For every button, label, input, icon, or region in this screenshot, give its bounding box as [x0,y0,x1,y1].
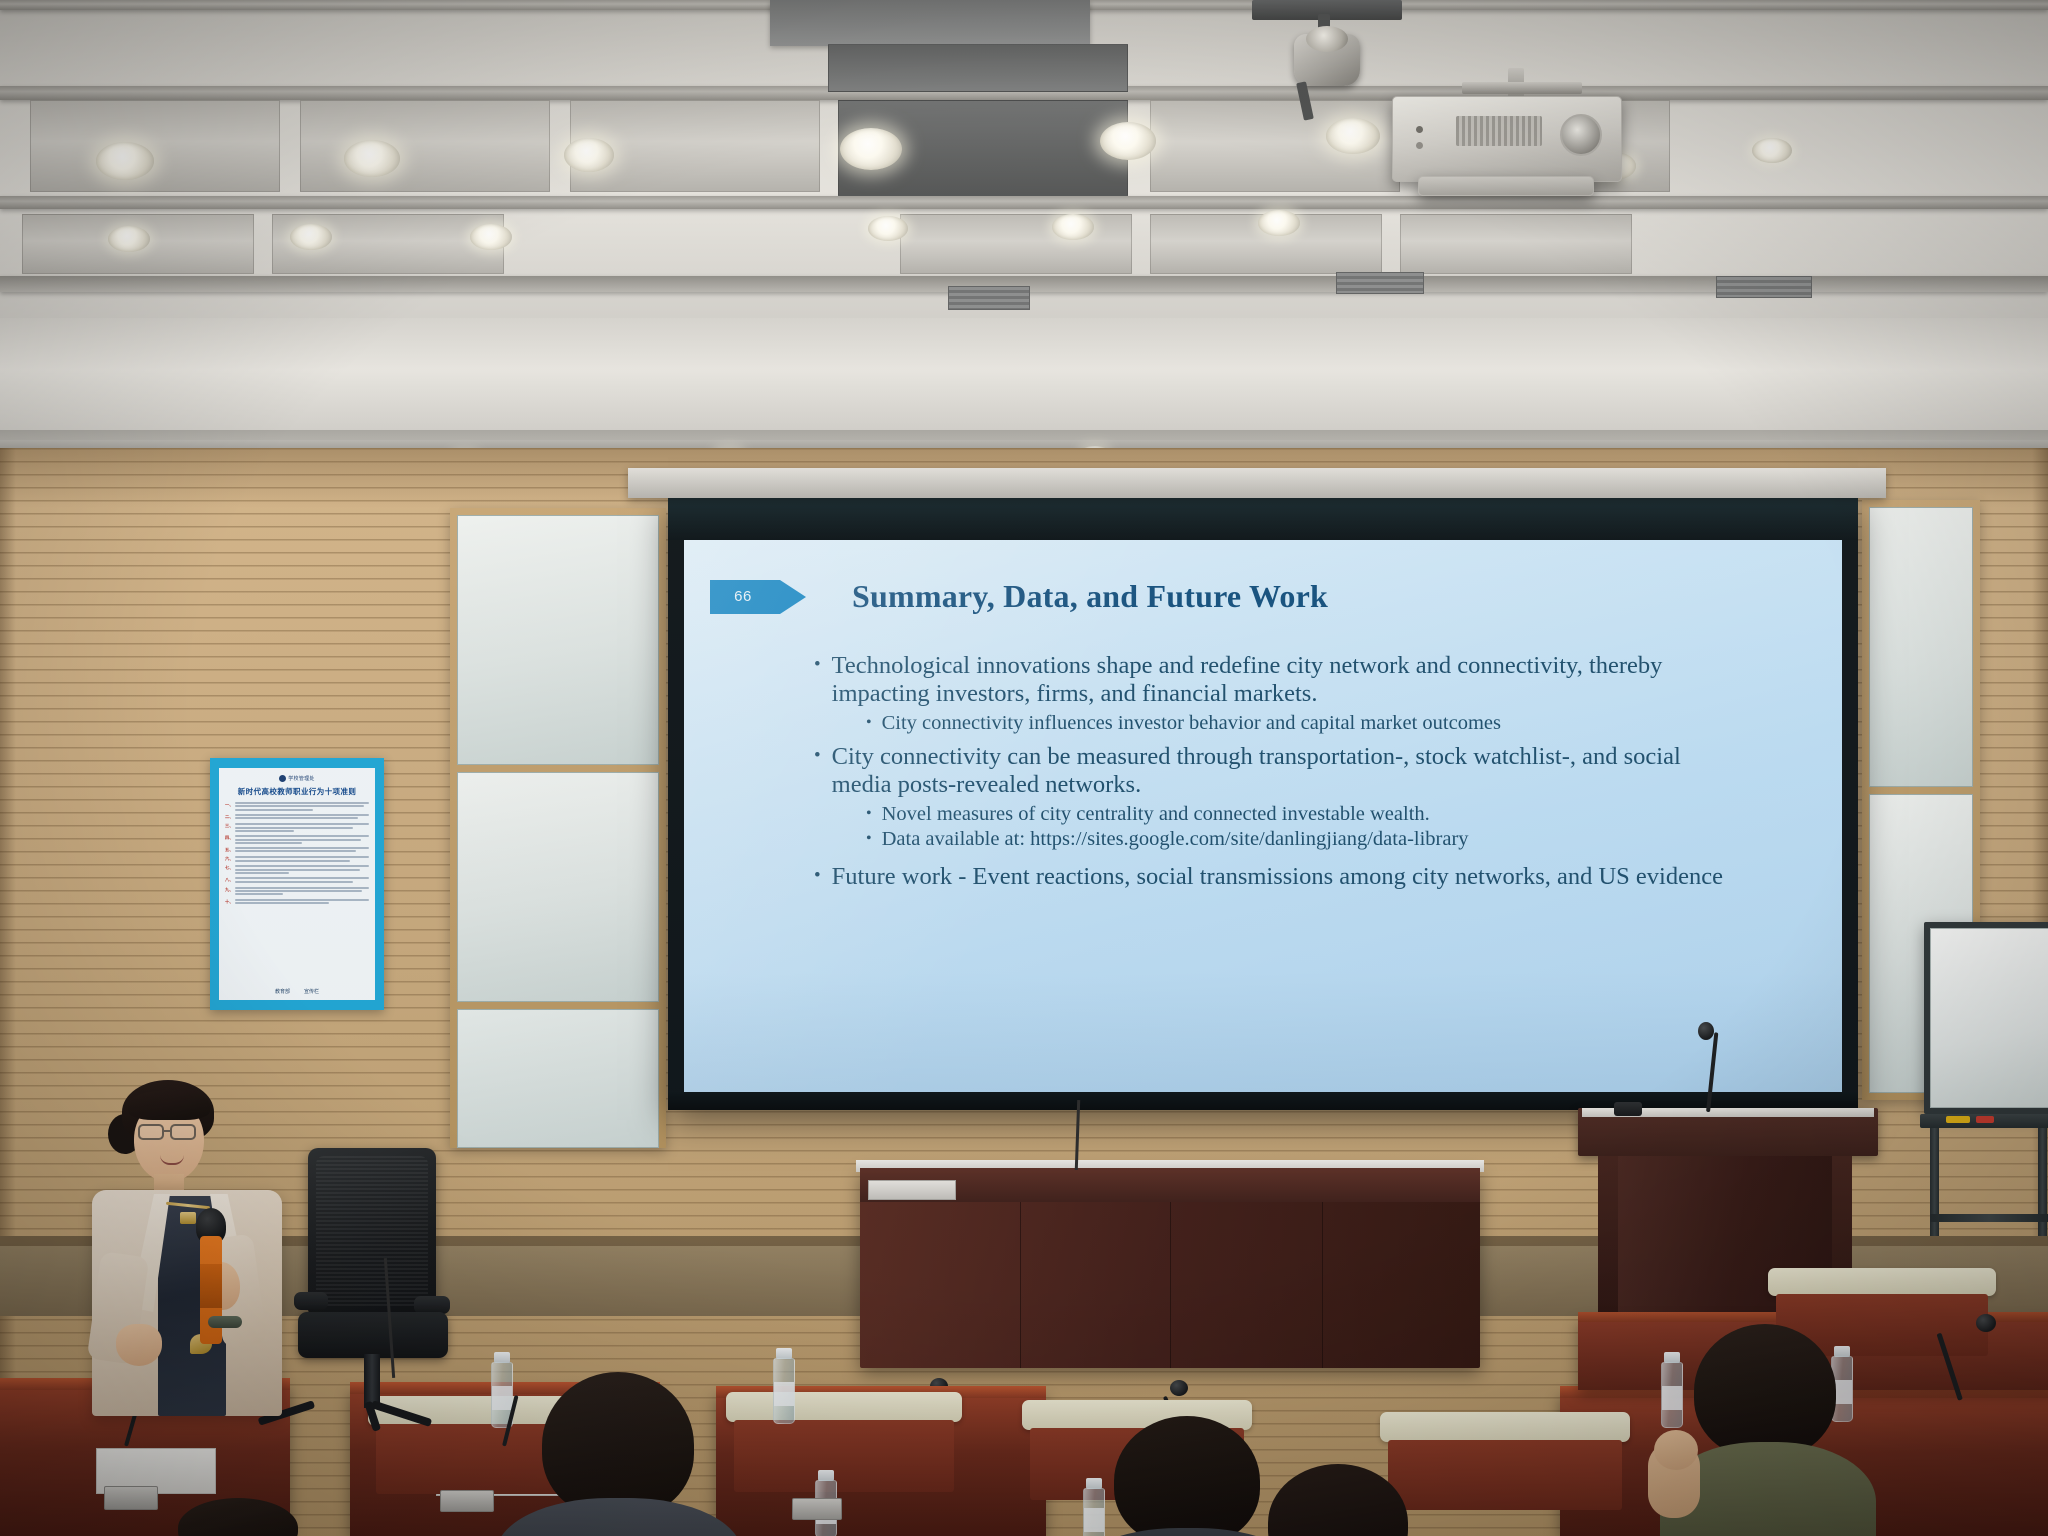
rule-number: 十、 [225,899,233,905]
ceiling-downlight [868,216,908,241]
bullet-glyph: • [814,863,821,891]
ceiling-panel [1400,214,1632,274]
audience-head [542,1372,694,1518]
poster-rule: 一、 [225,802,369,811]
rule-number: 八、 [225,877,233,883]
bullet-text-url: Data available at: https://sites.google.… [882,827,1734,851]
slide-title: Summary, Data, and Future Work [852,578,1328,615]
slide-subbullet: • Novel measures of city centrality and … [866,802,1734,826]
chair-backrest [308,1148,436,1316]
projector-lens [1560,114,1602,156]
slide-bullet: • Technological innovations shape and re… [814,652,1734,709]
ceiling-downlight [108,226,150,252]
necklace-pendant [180,1212,196,1224]
presenter [96,1076,326,1416]
slide-subbullet: • Data available at: https://sites.googl… [866,827,1734,851]
rule-text [235,877,369,883]
poster-rule: 三、 [225,823,369,832]
bullet-text: City connectivity can be measured throug… [832,743,1734,800]
slide-body: • Technological innovations shape and re… [814,652,1734,894]
rule-number: 四、 [225,835,233,844]
ceiling-downlight [1100,122,1156,160]
bullet-text: Future work - Event reactions, social tr… [832,863,1734,891]
ceiling-downlight [1052,214,1094,240]
ceiling-recess [828,44,1128,92]
projector-indicator [1416,126,1423,133]
poster-footer-right: 宣传栏 [304,988,319,995]
rule-text [235,802,369,811]
whiteboard-pane [457,1009,659,1148]
whiteboard-marker [1946,1116,1970,1123]
projector-vent [1456,116,1542,146]
poster-organization: 学校管理处 [288,775,315,782]
desk-power-outlet [792,1498,842,1520]
rule-text [235,835,369,844]
chair-mesh [316,1156,428,1306]
poster-footer: 教育部 宣传栏 [275,988,319,995]
presenter-hair [128,1090,210,1120]
ceiling-vent [1336,272,1424,294]
slide-subbullet-group: • Novel measures of city centrality and … [814,802,1734,851]
whiteboard-pane [1869,507,1973,787]
whiteboard-divider [457,1002,659,1009]
desk-power-outlet [104,1486,158,1510]
rule-text [235,865,369,874]
poster-content: 学校管理处 新时代高校教师职业行为十项准则 一、 二、 三、 四、 五、 六、 … [219,768,375,1000]
presentation-slide: 66 Summary, Data, and Future Work • Tech… [684,540,1842,1092]
bullet-glyph: • [866,827,872,851]
poster-rule: 四、 [225,835,369,844]
slide-bullet: • City connectivity can be measured thro… [814,743,1734,800]
whiteboard-divider [1869,787,1973,794]
presenter-hand [116,1324,162,1366]
poster-rule: 七、 [225,865,369,874]
desk-panel-seam [1020,1202,1021,1368]
poster-rule: 六、 [225,856,369,862]
rule-number: 五、 [225,847,233,853]
ceiling-downlight [564,138,614,172]
audience-hand [1654,1430,1698,1470]
poster-rule: 二、 [225,814,369,820]
ceiling-panel [300,100,550,192]
whiteboard-surface [1930,928,2048,1108]
screen-glare [684,972,1842,1092]
ceiling-downlight [96,142,154,180]
wall-shadow [0,448,16,1536]
poster-rule: 十、 [225,899,369,905]
slide-header: 66 Summary, Data, and Future Work [710,578,1328,615]
ceiling-beam [770,0,1090,46]
ceiling-vent [1716,276,1812,298]
ceiling-downlight [344,140,400,177]
rule-text [235,823,369,832]
screen-rail [628,468,1886,498]
rule-text [235,887,369,896]
bullet-glyph: • [814,652,821,709]
bullet-text: Novel measures of city centrality and co… [882,802,1734,826]
projection-screen: 66 Summary, Data, and Future Work • Tech… [668,498,1858,1110]
poster-footer-left: 教育部 [275,988,290,995]
ceiling-downlight [290,224,332,250]
whiteboard-crossbar [1930,1214,2048,1222]
slide-bullet: • Future work - Event reactions, social … [814,863,1734,891]
poster-rule-list: 一、 二、 三、 四、 五、 六、 七、 八、 九、 十、 [225,802,369,905]
rule-text [235,899,369,905]
eyeglasses [138,1124,164,1140]
slide-number: 66 [734,588,752,605]
eyeglasses-bridge [164,1130,170,1132]
ceiling-downlight [470,224,512,250]
projector-indicator [1416,142,1423,149]
bullet-glyph: • [866,802,872,826]
microphone-grip [200,1264,222,1308]
poster-title: 新时代高校教师职业行为十项准则 [238,786,357,797]
ceiling-downlight [1752,138,1792,163]
ceiling-panel [30,100,280,192]
audience-head [1114,1416,1260,1536]
poster-rule: 九、 [225,887,369,896]
ceiling-beam [0,196,2048,209]
projector-mount [1462,82,1582,94]
whiteboard-pane [457,515,659,765]
ceiling-downlight [840,128,902,170]
podium-microphone-base [1614,1102,1642,1116]
slide-subbullet: • City connectivity influences investor … [866,711,1734,735]
ceiling-vent [948,286,1030,310]
rule-number: 七、 [225,865,233,874]
ceiling-downlight [1258,210,1300,236]
bullet-glyph: • [814,743,821,800]
audience-head [1694,1324,1836,1458]
rule-number: 一、 [225,802,233,811]
desk-control-panel [868,1180,956,1200]
bullet-text: Technological innovations shape and rede… [832,652,1734,709]
poster-seal-icon [279,775,286,782]
rule-text [235,856,369,862]
desk-panel-seam [1322,1202,1323,1368]
rule-number: 九、 [225,887,233,896]
poster-rule: 五、 [225,847,369,853]
poster-rule: 八、 [225,877,369,883]
desk-microphone-head [1170,1380,1188,1396]
rule-number: 六、 [225,856,233,862]
chair-post [364,1354,380,1408]
whiteboard-marker [1976,1116,1994,1123]
slide-number-badge: 66 [710,580,780,614]
eyeglasses [170,1124,196,1140]
rule-text [235,847,369,853]
whiteboard-pane [457,772,659,1002]
rule-text [235,814,369,820]
rule-number: 三、 [225,823,233,832]
desk-microphone-head [1976,1314,1996,1332]
spotlight-lens [1306,26,1348,52]
whiteboard-divider [457,765,659,772]
desk-panel-seam [1170,1202,1171,1368]
poster-logo: 学校管理处 [279,775,315,782]
podium-microphone-head [1698,1022,1714,1040]
lecture-hall-photo: 学校管理处 新时代高校教师职业行为十项准则 一、 二、 三、 四、 五、 六、 … [0,0,2048,1536]
slide-subbullet-group: • City connectivity influences investor … [814,711,1734,735]
screen-bezel [668,498,1858,540]
wall-whiteboard-left [450,508,666,1148]
mobile-whiteboard [1924,922,2048,1114]
bullet-text: City connectivity influences investor be… [882,711,1734,735]
wall-poster: 学校管理处 新时代高校教师职业行为十项准则 一、 二、 三、 四、 五、 六、 … [210,758,384,1010]
bracelet [208,1316,242,1328]
ceiling-downlight [1326,118,1380,154]
projector-base [1418,176,1594,196]
ceiling-panel [900,214,1132,274]
upper-wall [0,318,2048,448]
rule-number: 二、 [225,814,233,820]
bullet-glyph: • [866,711,872,735]
desk-power-outlet [440,1490,494,1512]
